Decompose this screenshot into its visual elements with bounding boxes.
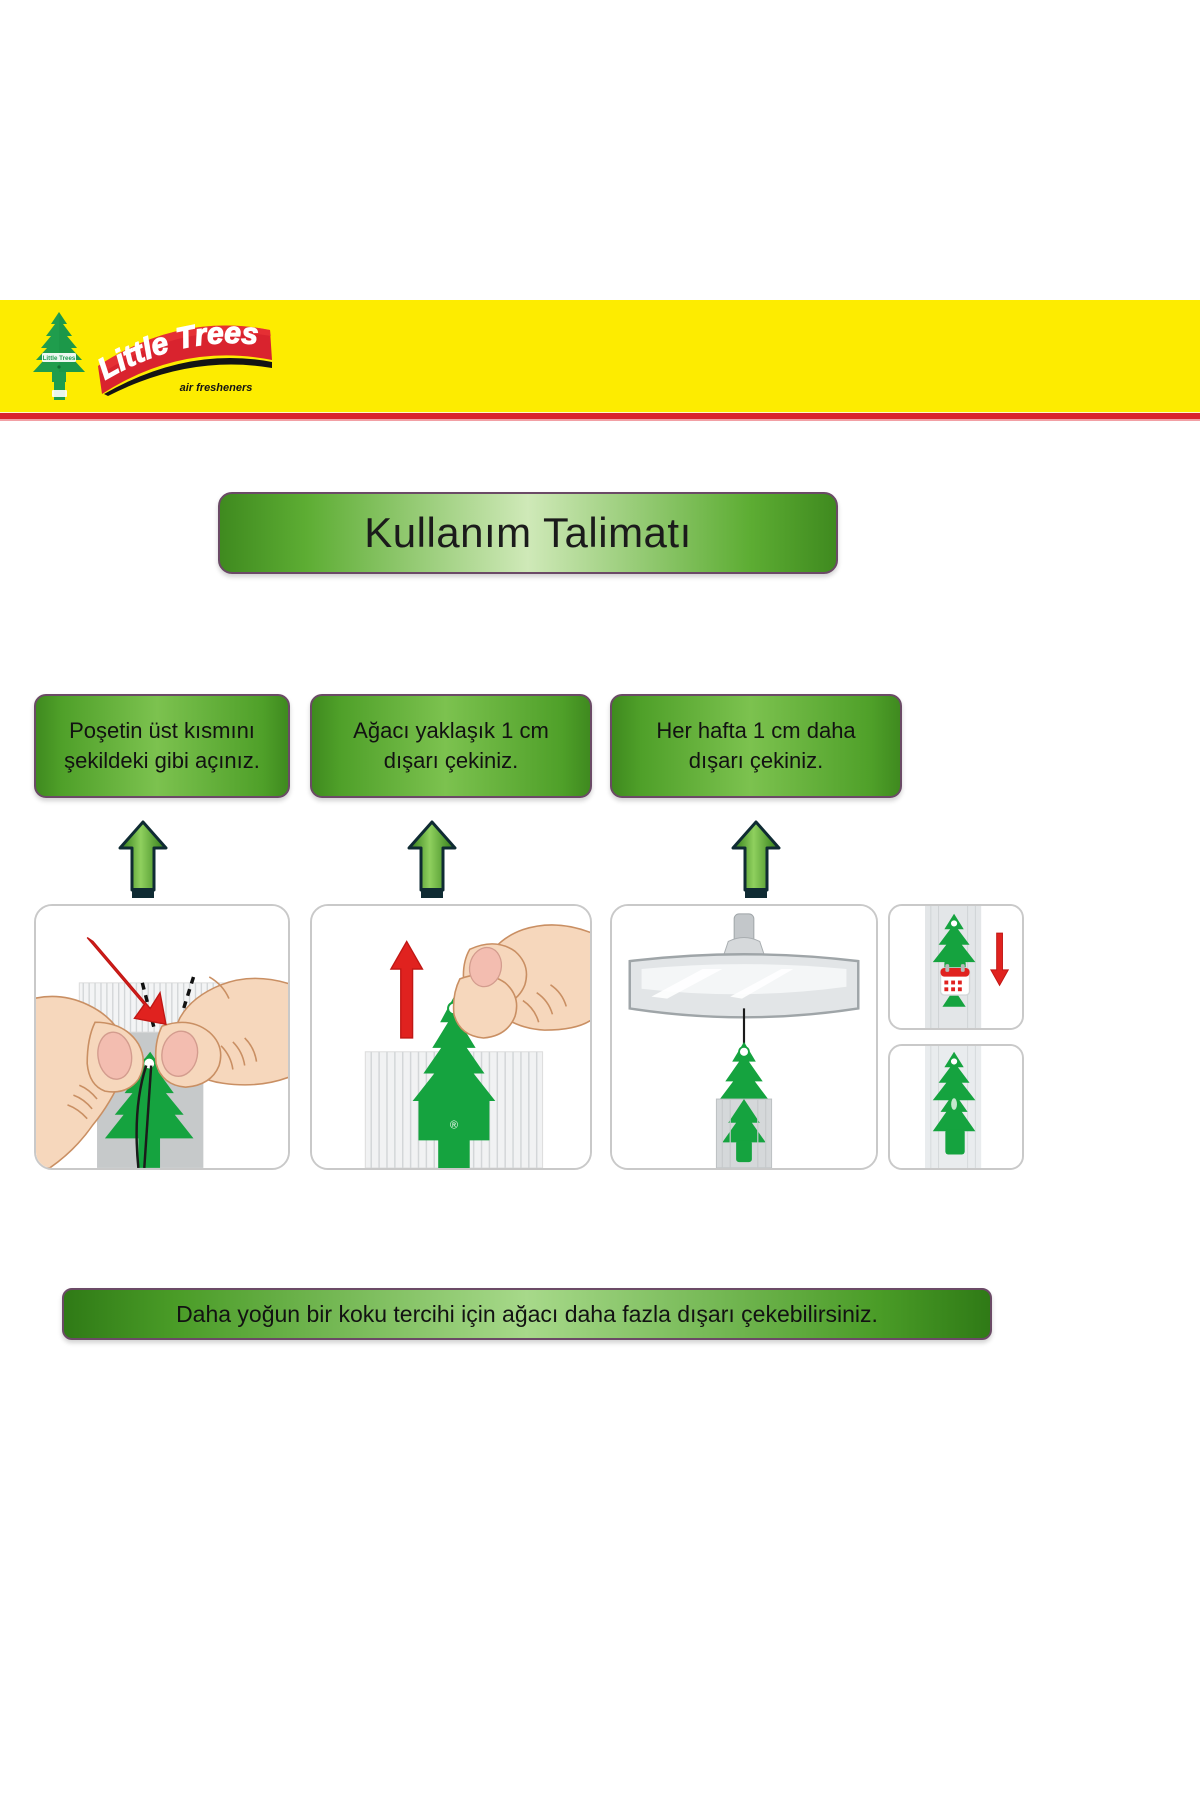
mirror-hanging-tree-illustration (610, 904, 878, 1170)
instruction-sheet: Little Trees Little Trees air fresheners (0, 0, 1200, 1800)
footer-note-text: Daha yoğun bir koku tercihi için ağacı d… (176, 1303, 878, 1326)
weekly-progress-panels (888, 904, 1024, 1170)
mirror-hanging-tree-graphic (612, 906, 876, 1168)
illustration-panels-row: ® (0, 904, 1200, 1170)
step-caption-2: Ağacı yaklaşık 1 cm dışarı çekiniz. (310, 694, 592, 798)
step-caption-1-text: Poşetin üst kısmını şekildeki gibi açını… (50, 716, 274, 775)
hands-pulling-tree-illustration: ® (310, 904, 592, 1170)
svg-text:®: ® (450, 1120, 458, 1132)
step-caption-1: Poşetin üst kısmını şekildeki gibi açını… (34, 694, 290, 798)
step-caption-3-text: Her hafta 1 cm daha dışarı çekiniz. (626, 716, 886, 775)
step-caption-3: Her hafta 1 cm daha dışarı çekiniz. (610, 694, 902, 798)
page-title-plate: Kullanım Talimatı (218, 492, 838, 574)
brand-tagline: air fresheners (180, 382, 253, 394)
brand-logo: Little Trees Little Trees air fresheners (28, 310, 272, 402)
calendar-weekly-pull-graphic (890, 906, 1022, 1028)
hands-pulling-tree-graphic: ® (312, 906, 590, 1168)
brand-wordmark-icon: Little Trees air fresheners (96, 316, 272, 396)
arrow-up-icon (117, 820, 169, 898)
arrow-up-icon (406, 820, 458, 898)
page-title: Kullanım Talimatı (364, 512, 692, 554)
hands-tearing-pouch-graphic (36, 906, 288, 1168)
brand-banner: Little Trees Little Trees air fresheners (0, 300, 1200, 412)
step-captions-row: Poşetin üst kısmını şekildeki gibi açını… (0, 694, 1200, 804)
step-arrows-row (0, 820, 1200, 900)
tree-fully-out-graphic (890, 1046, 1022, 1168)
svg-text:Little Trees: Little Trees (43, 355, 76, 362)
calendar-weekly-pull-illustration (888, 904, 1024, 1030)
brand-divider-rule (0, 412, 1200, 421)
tree-fully-out-illustration (888, 1044, 1024, 1170)
hands-tearing-pouch-illustration (34, 904, 290, 1170)
little-tree-logo-icon: Little Trees (28, 310, 90, 402)
step-caption-2-text: Ağacı yaklaşık 1 cm dışarı çekiniz. (326, 716, 576, 775)
footer-note-banner: Daha yoğun bir koku tercihi için ağacı d… (62, 1288, 992, 1340)
arrow-up-icon (730, 820, 782, 898)
